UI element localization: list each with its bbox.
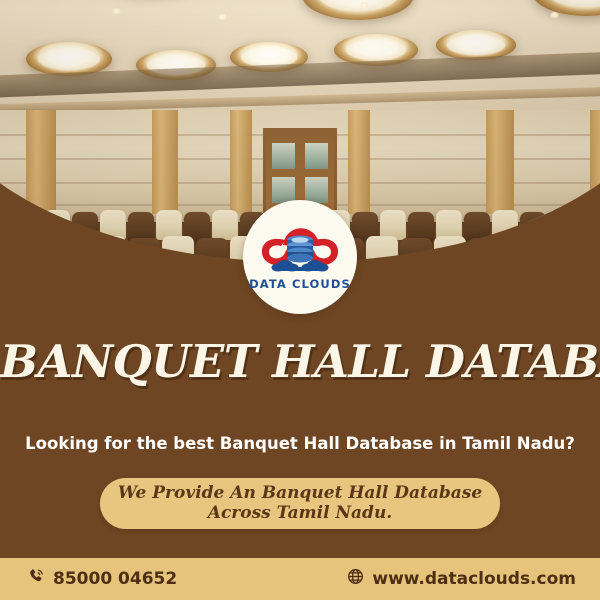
phone-contact[interactable]: 85000 04652: [27, 567, 177, 591]
globe-icon: [346, 567, 365, 591]
logo-badge: DATA CLOUDS: [243, 200, 357, 314]
logo-wordmark: DATA CLOUDS: [249, 277, 351, 291]
website-contact[interactable]: www.dataclouds.com: [346, 567, 576, 591]
contact-footer: 85000 04652 www.dataclouds.com: [0, 558, 600, 600]
value-proposition-text: We Provide An Banquet Hall Database Acro…: [118, 484, 482, 523]
subheadline: Looking for the best Banquet Hall Databa…: [0, 434, 600, 453]
logo-svg: [259, 225, 341, 275]
page-title: BANQUET HALL DATABASE: [0, 339, 600, 384]
poster-canvas: DATA CLOUDS BANQUET HALL DATABASE Lookin…: [0, 0, 600, 600]
phone-icon: [27, 567, 46, 591]
phone-number: 85000 04652: [53, 569, 177, 589]
website-url: www.dataclouds.com: [372, 569, 576, 589]
data-clouds-logo-mark: [259, 225, 341, 275]
value-proposition-badge: We Provide An Banquet Hall Database Acro…: [100, 478, 500, 529]
database-cylinder-icon: [287, 236, 313, 263]
